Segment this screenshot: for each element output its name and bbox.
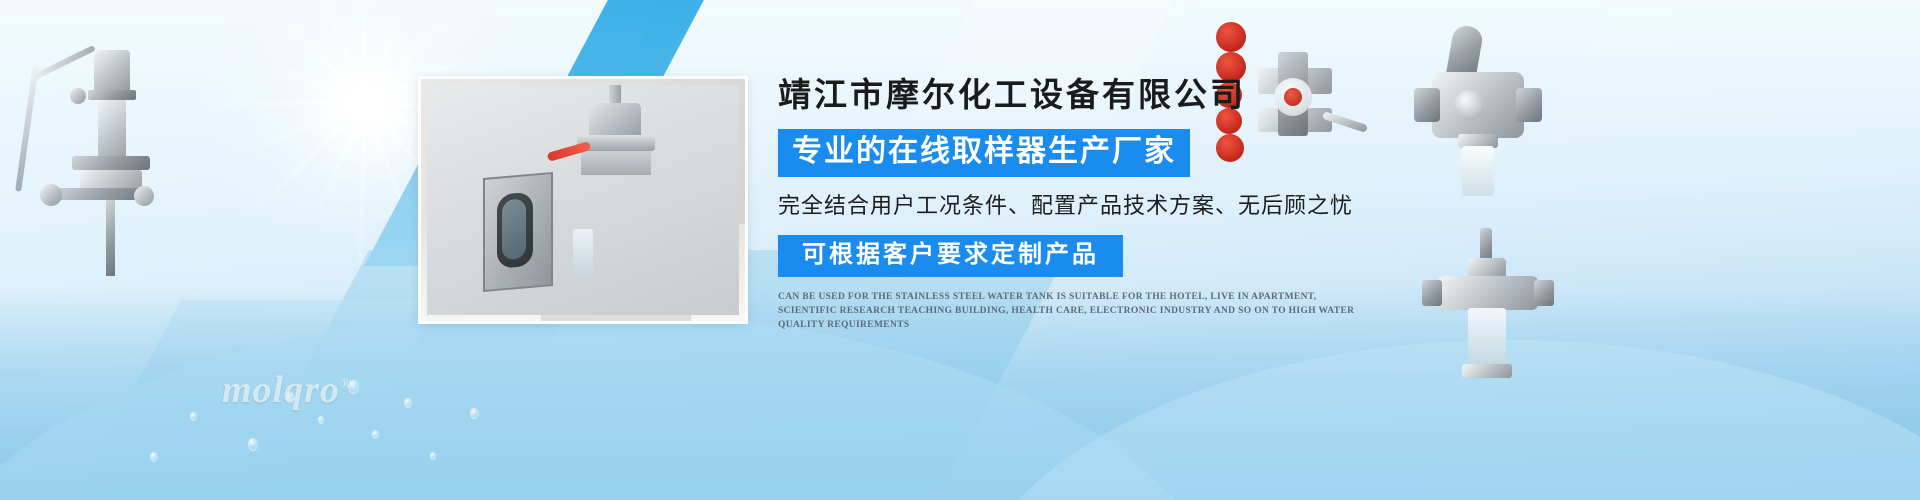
product-photo[interactable] [418,76,748,324]
company-name: 靖江市摩尔化工设备有限公司 [778,76,1398,116]
slogan-primary: 专业的在线取样器生产厂家 [778,129,1190,177]
banner-text-column: 靖江市摩尔化工设备有限公司 专业的在线取样器生产厂家 完全结合用户工况条件、配置… [778,76,1398,332]
promotional-banner: 靖江市摩尔化工设备有限公司 专业的在线取样器生产厂家 完全结合用户工况条件、配置… [0,0,1920,500]
valve-handwheel-icon [1216,22,1246,52]
watermark-logo: molqro® [222,368,352,412]
equipment-bottom-right [1418,228,1568,408]
registered-mark-icon: ® [340,376,352,392]
water-droplet-icon [372,430,379,439]
english-subtext: CAN BE USED FOR THE STAINLESS STEEL WATE… [778,290,1378,332]
water-droplet-icon [404,398,412,408]
water-droplet-icon [470,408,479,419]
water-droplet-icon [150,452,158,462]
banner-description: 完全结合用户工况条件、配置产品技术方案、无后顾之忧 [778,191,1398,221]
equipment-right [1406,26,1556,206]
slogan-secondary: 可根据客户要求定制产品 [778,235,1123,277]
equipment-left [10,28,170,278]
water-droplet-icon [318,416,324,424]
water-droplet-icon [430,452,436,460]
water-droplet-icon [248,438,258,451]
watermark-text: molqro [222,369,340,411]
water-droplet-icon [190,412,197,421]
